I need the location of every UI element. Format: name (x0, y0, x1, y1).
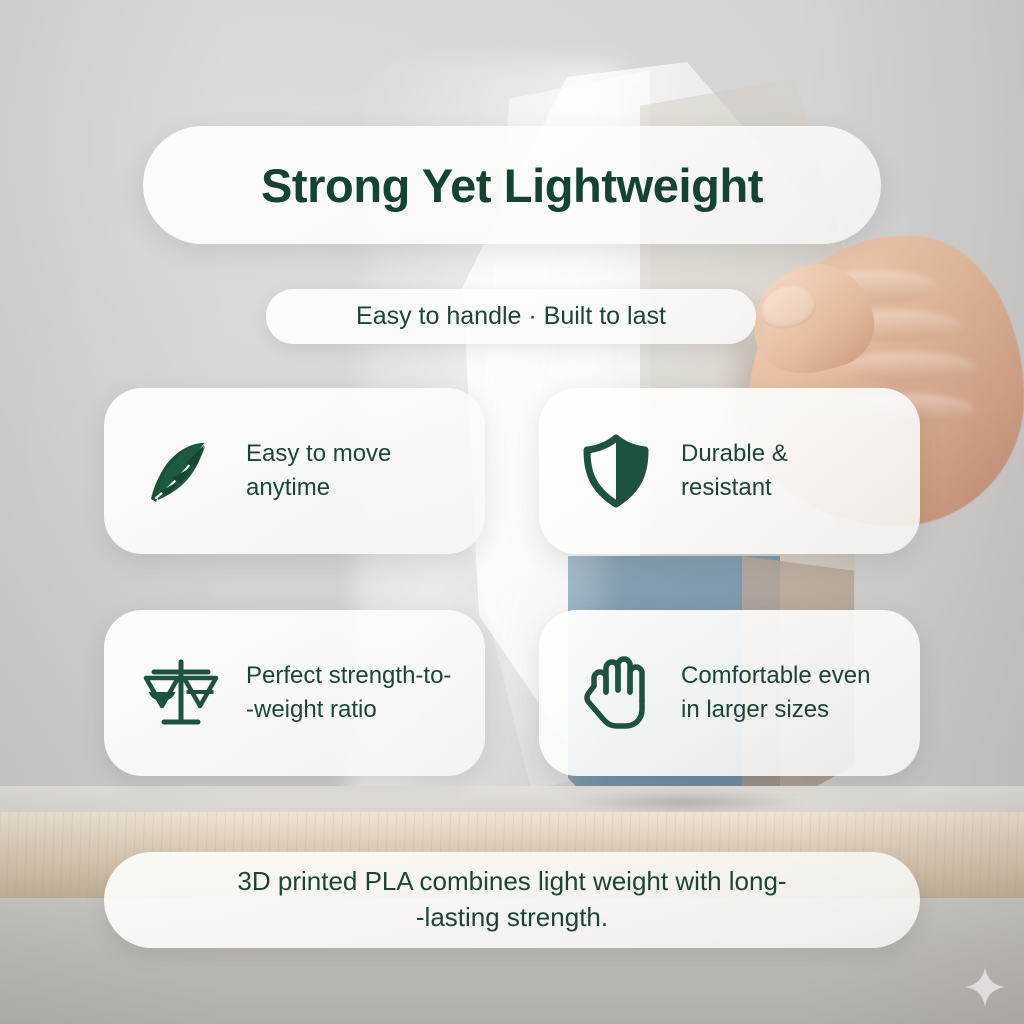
feature-label-line2: anytime (246, 474, 330, 501)
sparkle-icon (962, 964, 1008, 1010)
feature-label-line1: Comfortable even (681, 662, 870, 689)
footer-text-line1: 3D printed PLA combines light weight wit… (237, 866, 786, 896)
subtitle-banner: Easy to handle · Built to last (266, 289, 756, 344)
shield-icon (577, 432, 655, 510)
balance-scales-icon (142, 654, 220, 732)
feature-card-comfortable[interactable]: Comfortable even in larger sizes (539, 610, 920, 776)
feature-label: Durable & resistant (681, 437, 788, 505)
feature-label-line1: Perfect strength-to- (246, 662, 451, 689)
footer-text: 3D printed PLA combines light weight wit… (237, 864, 786, 936)
footer-banner: 3D printed PLA combines light weight wit… (104, 852, 920, 948)
open-hand-icon (577, 654, 655, 732)
feature-label-line2: resistant (681, 474, 772, 501)
footer-text-line2: -lasting strength. (416, 902, 608, 932)
feature-label: Perfect strength-to- -weight ratio (246, 659, 451, 727)
page-title: Strong Yet Lightweight (261, 158, 763, 213)
knuckle-crease (840, 352, 976, 382)
feature-card-strength-to-weight[interactable]: Perfect strength-to- -weight ratio (104, 610, 485, 776)
feature-label-line2: in larger sizes (681, 696, 829, 723)
feature-label: Comfortable even in larger sizes (681, 659, 870, 727)
feature-card-easy-to-move[interactable]: Easy to move anytime (104, 388, 485, 554)
feather-icon (142, 432, 220, 510)
poster-canvas: Strong Yet Lightweight Easy to handle · … (0, 0, 1024, 1024)
page-subtitle: Easy to handle · Built to last (356, 302, 666, 331)
feature-label-line1: Durable & (681, 440, 788, 467)
title-banner: Strong Yet Lightweight (143, 126, 881, 244)
feature-card-durable[interactable]: Durable & resistant (539, 388, 920, 554)
feature-card-grid: Easy to move anytime Durable & resistant (104, 388, 920, 776)
feature-label: Easy to move anytime (246, 437, 391, 505)
feature-label-line1: Easy to move (246, 440, 391, 467)
feature-label-line2: -weight ratio (246, 696, 377, 723)
